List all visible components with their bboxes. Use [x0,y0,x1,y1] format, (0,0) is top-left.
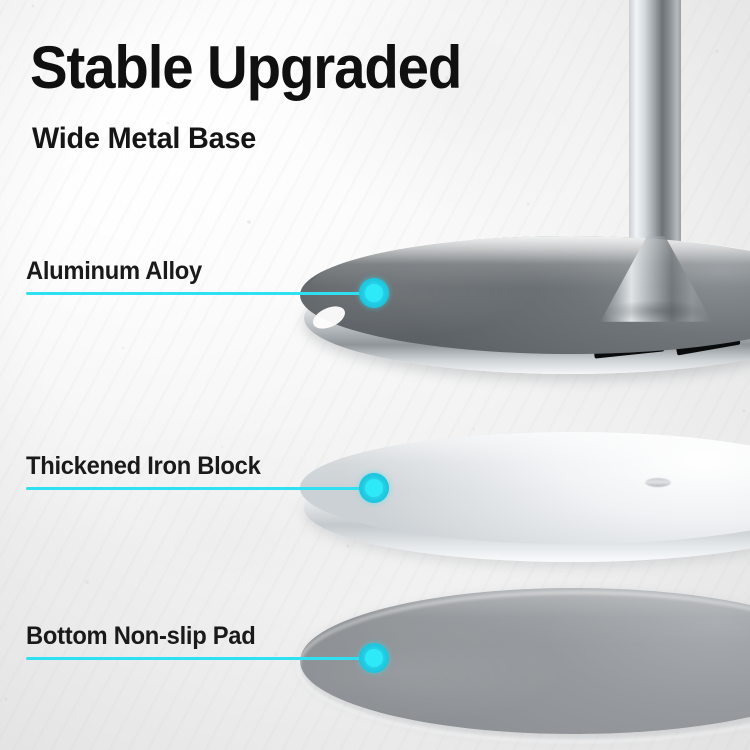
callout-label-bottom-non-slip-pad: Bottom Non-slip Pad [26,622,255,651]
callout-aluminum-alloy: Aluminum Alloy [26,255,371,295]
callout-leader-line-thickened-iron-block [26,487,371,490]
iron-block-screw-hole [645,478,671,487]
callout-label-thickened-iron-block: Thickened Iron Block [26,452,261,481]
callout-dot-aluminum-alloy [359,278,389,308]
callout-thickened-iron-block: Thickened Iron Block [26,450,371,490]
callout-bottom-non-slip-pad: Bottom Non-slip Pad [26,620,371,660]
page-title: Stable Upgraded [30,36,461,99]
page-subtitle: Wide Metal Base [32,122,256,156]
callout-label-aluminum-alloy: Aluminum Alloy [26,257,202,286]
callout-dot-non-slip-pad [359,643,389,673]
callout-leader-line-bottom-non-slip-pad [26,657,371,660]
pole-contact-shadow [586,296,728,326]
callout-leader-line-aluminum-alloy [26,292,371,295]
product-feature-image: Stable Upgraded Wide Metal Base Aluminum… [0,0,750,750]
callout-dot-iron-block [359,473,389,503]
